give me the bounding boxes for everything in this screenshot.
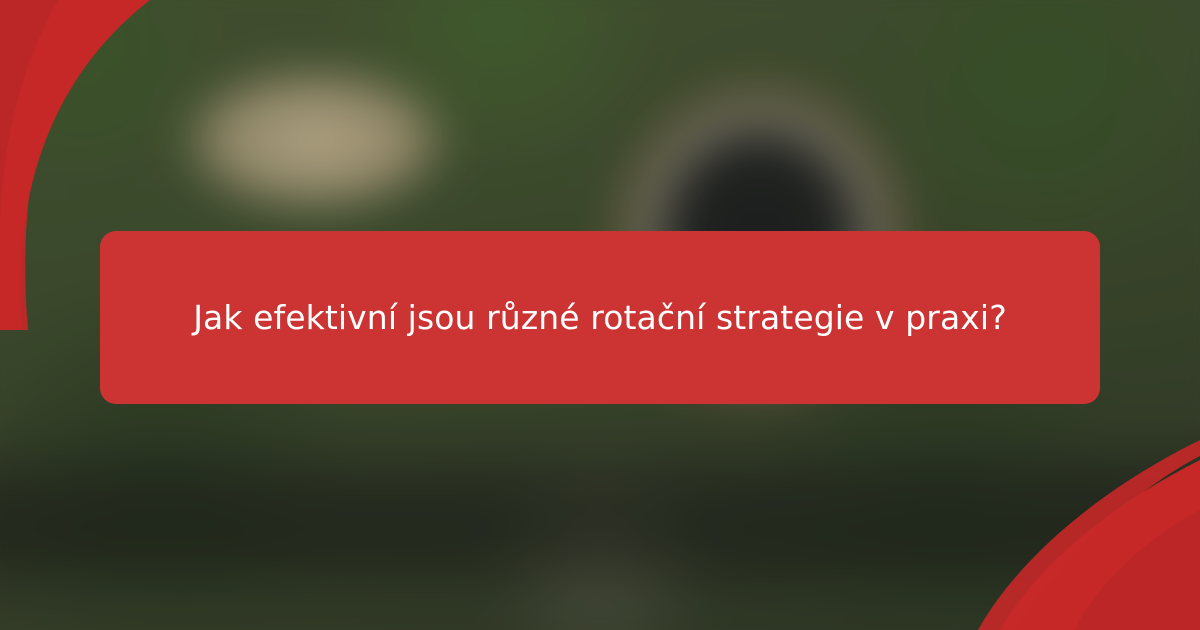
poster-canvas: Jak efektivní jsou různé rotační strateg…	[0, 0, 1200, 630]
page-title: Jak efektivní jsou různé rotační strateg…	[193, 292, 1007, 343]
title-card: Jak efektivní jsou různé rotační strateg…	[100, 231, 1100, 404]
